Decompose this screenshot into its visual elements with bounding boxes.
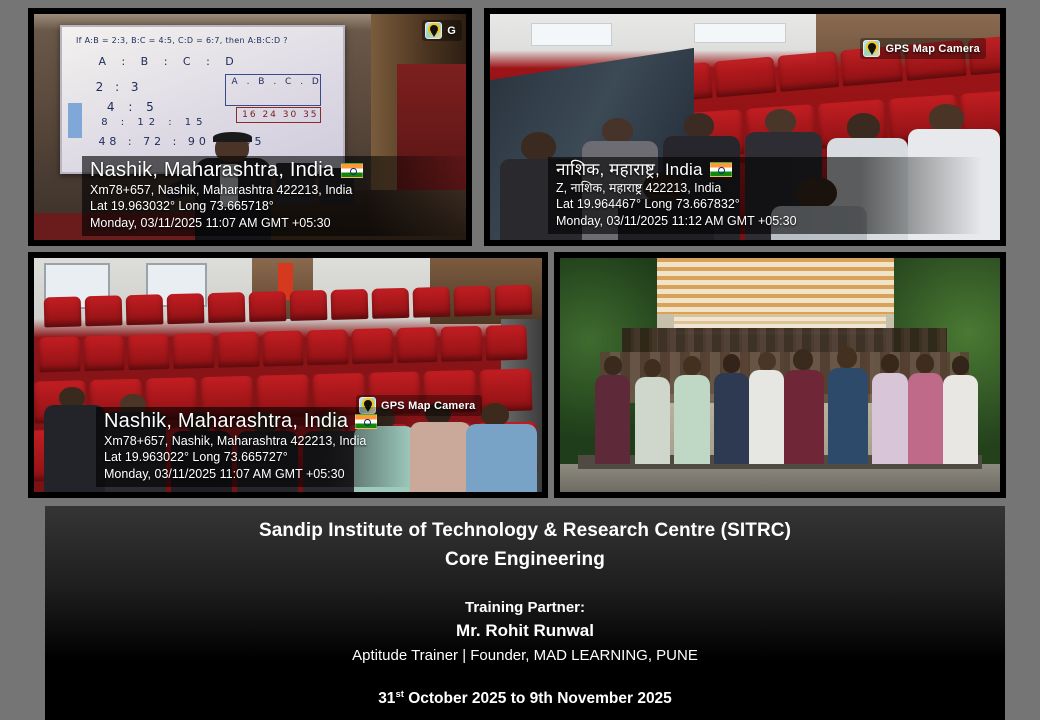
attendee-head bbox=[602, 118, 633, 143]
group-member-body bbox=[635, 377, 670, 464]
date-ordinal-suffix: st bbox=[395, 689, 403, 700]
seat bbox=[44, 296, 82, 327]
gps-badge-label: G bbox=[447, 25, 456, 37]
seat bbox=[126, 294, 164, 325]
attendee-head bbox=[684, 113, 715, 138]
group-member-head bbox=[723, 354, 741, 373]
gps-map-camera-badge: GPS Map Camera bbox=[860, 38, 986, 59]
seat bbox=[167, 293, 205, 324]
gps-city-text: Nashik, Maharashtra, India bbox=[104, 410, 348, 433]
gps-address: Xm78+657, Nashik, Maharashtra 422213, In… bbox=[90, 182, 466, 199]
group-member-body bbox=[714, 373, 749, 464]
board-line-5: 8 : 12 : 15 bbox=[101, 117, 207, 128]
gps-city-text: Nashik, Maharashtra, India bbox=[90, 159, 334, 182]
group-member-head bbox=[837, 347, 857, 368]
seat bbox=[777, 51, 840, 92]
seat bbox=[208, 292, 246, 323]
seat bbox=[83, 335, 125, 371]
group-member-head bbox=[758, 352, 776, 371]
group-member-head bbox=[916, 354, 934, 373]
gps-map-camera-badge: G bbox=[422, 20, 462, 41]
group-member-body bbox=[872, 373, 907, 464]
group-member-body bbox=[749, 370, 784, 464]
map-pin-icon bbox=[425, 22, 442, 39]
board-box-right: A . B . C . D bbox=[225, 74, 321, 106]
seat bbox=[371, 288, 409, 319]
seat bbox=[441, 325, 483, 361]
gps-coords: Lat 19.963022° Long 73.665727° bbox=[104, 449, 402, 466]
seat bbox=[494, 284, 532, 315]
board-blue-marker bbox=[68, 103, 82, 138]
training-partner-label: Training Partner: bbox=[45, 597, 1005, 620]
photo-group-outdoor bbox=[554, 252, 1006, 498]
gps-address: Xm78+657, Nashik, Maharashtra 422213, In… bbox=[104, 433, 402, 450]
caption-spacer-1 bbox=[45, 575, 1005, 597]
india-flag-icon bbox=[355, 414, 377, 429]
seat bbox=[128, 334, 170, 370]
board-boxed-values: 16 24 30 35 bbox=[242, 110, 318, 120]
board-line-2: A : B : C : D bbox=[98, 55, 239, 68]
seat bbox=[331, 289, 369, 320]
photo-audience-right: GPS Map Camera नाशिक, महाराष्ट्र, India … bbox=[484, 8, 1006, 246]
group-member-body bbox=[908, 373, 943, 464]
attendee-head bbox=[481, 403, 509, 426]
board-line-3: 2 : 3 bbox=[96, 80, 143, 94]
attendee-head bbox=[929, 104, 965, 131]
gps-overlay-3: Nashik, Maharashtra, India Xm78+657, Nas… bbox=[96, 407, 412, 488]
group-member-body bbox=[784, 370, 824, 464]
seat bbox=[217, 331, 259, 367]
seat bbox=[39, 336, 81, 372]
seat bbox=[412, 287, 450, 318]
group-member-head bbox=[881, 354, 899, 373]
gps-city-row-3: Nashik, Maharashtra, India bbox=[104, 410, 402, 433]
attendee-head bbox=[765, 109, 796, 134]
group-member-head bbox=[793, 349, 813, 370]
seat bbox=[262, 330, 304, 366]
seat bbox=[249, 291, 287, 322]
gps-city-text: नाशिक, महाराष्ट्र, India bbox=[556, 160, 703, 180]
institute-name: Sandip Institute of Technology & Researc… bbox=[45, 516, 1005, 545]
board-box-values: 16 24 30 35 bbox=[236, 107, 320, 123]
attendee-body bbox=[410, 422, 471, 492]
seat bbox=[173, 332, 215, 368]
gps-overlay-1: Nashik, Maharashtra, India Xm78+657, Nas… bbox=[82, 156, 472, 237]
department-name: Core Engineering bbox=[45, 545, 1005, 574]
gps-city-row-2: नाशिक, महाराष्ट्र, India bbox=[556, 160, 972, 180]
group-member-body bbox=[595, 375, 630, 464]
photo-classroom-projector: If A:B = 2:3, B:C = 4:5, C:D = 6:7, then… bbox=[28, 8, 472, 246]
photo-4-scene bbox=[560, 258, 1000, 492]
seat bbox=[396, 326, 438, 362]
gps-datetime: Monday, 03/11/2025 11:07 AM GMT +05:30 bbox=[104, 466, 402, 483]
seat bbox=[486, 324, 528, 360]
seat bbox=[352, 328, 394, 364]
photo-audience-wide: GPS Map Camera Nashik, Maharashtra, Indi… bbox=[28, 252, 548, 498]
gps-coords: Lat 19.963032° Long 73.665718° bbox=[90, 198, 466, 215]
gps-coords: Lat 19.964467° Long 73.667832° bbox=[556, 196, 972, 213]
board-line-1: If A:B = 2:3, B:C = 4:5, C:D = 6:7, then… bbox=[76, 36, 288, 45]
gps-overlay-2: नाशिक, महाराष्ट्र, India Z, नाशिक, महारा… bbox=[548, 157, 982, 234]
seat bbox=[307, 329, 349, 365]
program-dates: 31st October 2025 to 9th November 2025 bbox=[45, 689, 1005, 708]
map-pin-icon bbox=[863, 40, 880, 57]
date-range-rest: October 2025 to 9th November 2025 bbox=[404, 690, 672, 707]
group-member-head bbox=[604, 356, 622, 375]
trainer-role: Aptitude Trainer | Founder, MAD LEARNING… bbox=[45, 644, 1005, 667]
caption-panel: Sandip Institute of Technology & Researc… bbox=[45, 506, 1005, 720]
gps-datetime: Monday, 03/11/2025 11:12 AM GMT +05:30 bbox=[556, 213, 972, 230]
gps-address: Z, नाशिक, महाराष्ट्र 422213, India bbox=[556, 180, 972, 197]
seat bbox=[85, 295, 123, 326]
attendee-body bbox=[466, 424, 537, 492]
group-member-body bbox=[674, 375, 709, 464]
gps-badge-label: GPS Map Camera bbox=[885, 43, 980, 55]
seat bbox=[453, 285, 491, 316]
board-line-4: 4 : 5 bbox=[107, 100, 159, 114]
date-day-number: 31 bbox=[378, 690, 395, 707]
india-flag-icon bbox=[710, 162, 732, 177]
group-member-head bbox=[683, 356, 701, 375]
caption-spacer-2 bbox=[45, 667, 1005, 689]
poster-canvas: If A:B = 2:3, B:C = 4:5, C:D = 6:7, then… bbox=[0, 0, 1040, 720]
attendee-head bbox=[847, 113, 880, 140]
board-boxed-right-label: A . B . C . D bbox=[232, 77, 322, 87]
gps-city-row-1: Nashik, Maharashtra, India bbox=[90, 159, 466, 182]
group-member-head bbox=[644, 359, 662, 378]
group-member-body bbox=[828, 368, 868, 464]
india-flag-icon bbox=[341, 163, 363, 178]
gps-datetime: Monday, 03/11/2025 11:07 AM GMT +05:30 bbox=[90, 215, 466, 232]
group-member-body bbox=[943, 375, 978, 464]
trainer-cap bbox=[213, 132, 252, 143]
seat bbox=[290, 290, 328, 321]
trainer-name: Mr. Rohit Runwal bbox=[45, 619, 1005, 644]
seat bbox=[714, 57, 777, 98]
group-member-head bbox=[952, 356, 970, 375]
